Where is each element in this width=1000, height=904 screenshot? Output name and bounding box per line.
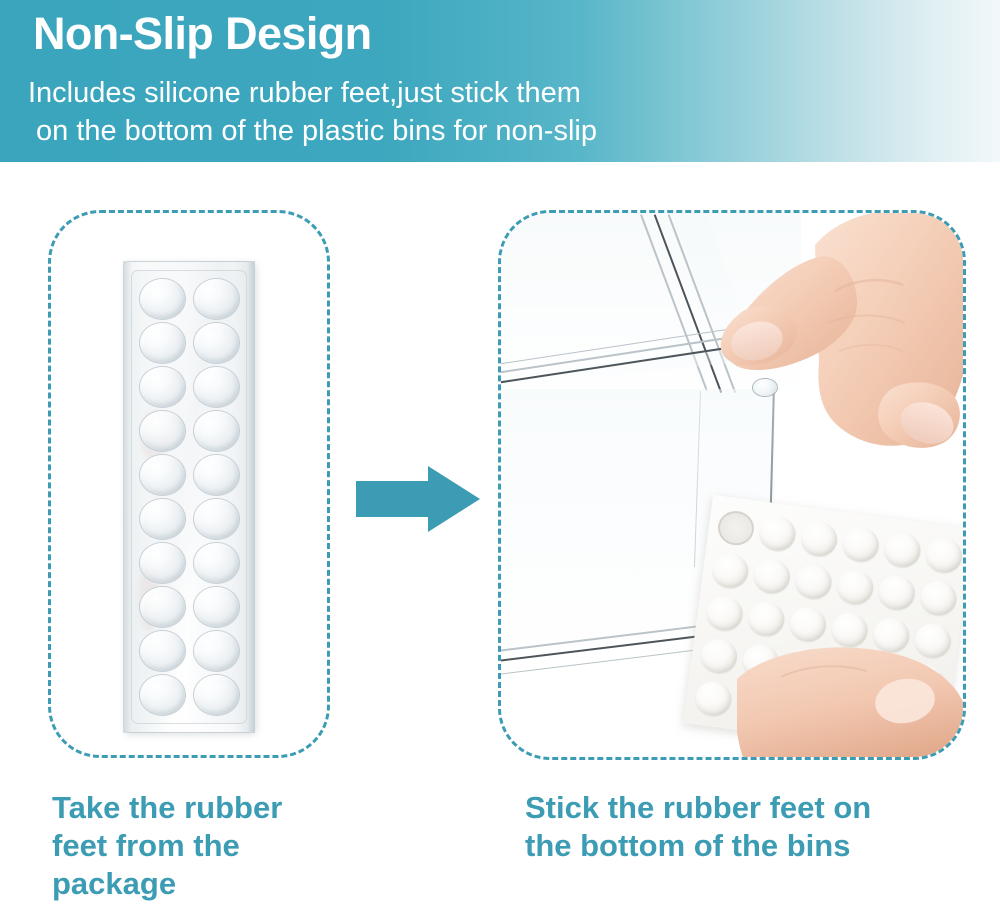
clear-bumper-grid xyxy=(135,277,243,717)
clear-bumper xyxy=(194,587,239,627)
clear-bumper xyxy=(194,543,239,583)
clear-bumper xyxy=(194,631,239,671)
clear-bumper xyxy=(194,675,239,715)
white-bumper xyxy=(752,557,792,595)
white-bumper-slot-empty xyxy=(716,509,756,547)
step-2-caption-line-1: Stick the rubber feet on xyxy=(525,789,965,827)
white-bumper xyxy=(758,514,798,552)
arrow-right-icon xyxy=(356,466,480,532)
step-1-caption-line-3: package xyxy=(52,865,352,903)
header-subtitle-line-2: on the bottom of the plastic bins for no… xyxy=(28,113,597,151)
step-1-caption: Take the rubber feet from the package xyxy=(52,789,352,902)
white-bumper xyxy=(705,594,745,632)
clear-bumper xyxy=(140,323,185,363)
step-2-caption: Stick the rubber feet on the bottom of t… xyxy=(525,789,965,865)
clear-bumper xyxy=(140,675,185,715)
white-bumper xyxy=(919,579,959,617)
step-1-image-panel xyxy=(48,210,330,758)
white-bumper xyxy=(746,600,786,638)
clear-bumper xyxy=(194,367,239,407)
hand-pressing-bumper xyxy=(707,210,966,451)
clear-bumper xyxy=(140,411,185,451)
step-2-caption-line-2: the bottom of the bins xyxy=(525,827,965,865)
white-bumper xyxy=(799,520,839,558)
white-bumper xyxy=(710,551,750,589)
white-bumper xyxy=(699,637,739,675)
white-bumper xyxy=(794,562,834,600)
clear-bumper xyxy=(194,323,239,363)
clear-bumper xyxy=(140,455,185,495)
white-bumper xyxy=(841,525,881,563)
clear-bumper xyxy=(194,279,239,319)
blister-edge-right xyxy=(246,261,255,733)
step-2-image-panel xyxy=(498,210,966,760)
bin-and-hands-scene xyxy=(501,213,966,760)
header-banner: Non-Slip Design Includes silicone rubber… xyxy=(0,0,1000,162)
white-bumper xyxy=(883,530,923,568)
header-subtitle-line-1: Includes silicone rubber feet,just stick… xyxy=(28,75,597,113)
step-1-caption-line-1: Take the rubber xyxy=(52,789,352,827)
page-title: Non-Slip Design xyxy=(33,8,372,60)
white-bumper xyxy=(877,573,917,611)
clear-bumper xyxy=(194,411,239,451)
clear-bumper xyxy=(194,455,239,495)
clear-bumper xyxy=(140,279,185,319)
clear-bumper xyxy=(140,543,185,583)
blister-pack xyxy=(123,261,255,733)
white-bumper xyxy=(835,568,875,606)
clear-bumper xyxy=(140,631,185,671)
white-bumper xyxy=(788,605,828,643)
clear-bumper xyxy=(140,499,185,539)
step-1-caption-line-2: feet from the xyxy=(52,827,352,865)
hand-holding-sheet xyxy=(737,643,966,760)
clear-bumper xyxy=(140,587,185,627)
white-bumper xyxy=(693,680,733,718)
header-subtitle: Includes silicone rubber feet,just stick… xyxy=(28,75,597,150)
white-bumper xyxy=(924,536,964,574)
clear-bumper xyxy=(140,367,185,407)
clear-bumper xyxy=(194,499,239,539)
